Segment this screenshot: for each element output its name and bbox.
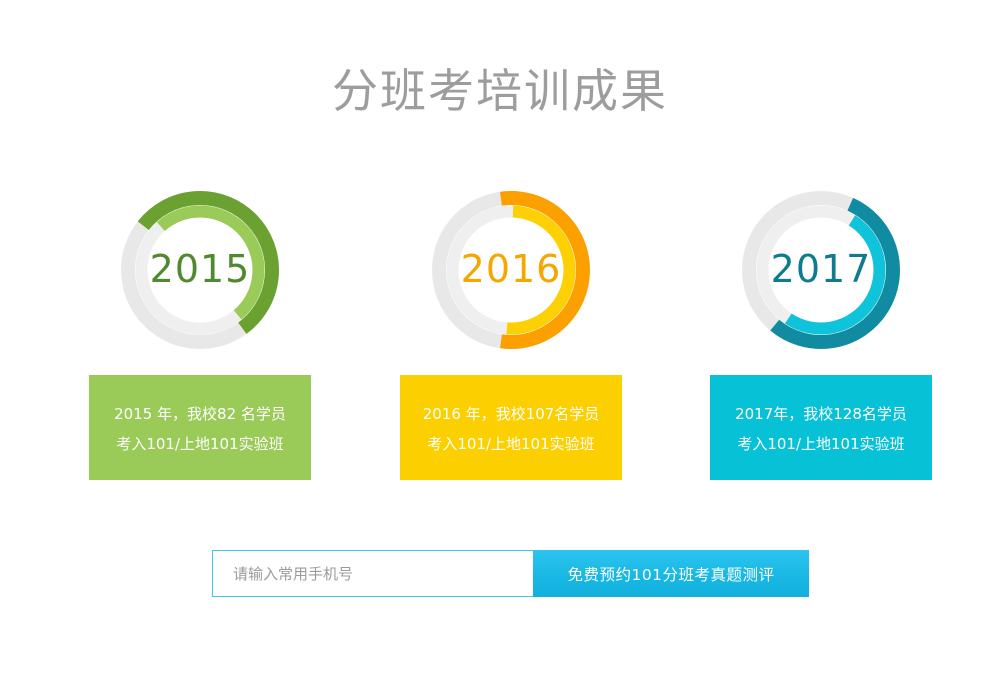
phone-input[interactable]	[212, 550, 533, 597]
info-line-2: 考入101/上地101实验班	[89, 429, 311, 459]
donut-year-label-2016: 2016	[461, 250, 562, 288]
result-info-box-2017: 2017年，我校128名学员 考入101/上地101实验班	[710, 375, 932, 480]
donut-year-label-2017: 2017	[771, 250, 872, 288]
result-card-2017: 2017 2017年，我校128名学员 考入101/上地101实验班	[710, 185, 932, 360]
info-line-1: 2016 年，我校107名学员	[400, 399, 622, 429]
info-line-1: 2015 年，我校82 名学员	[89, 399, 311, 429]
donut-chart-2017: 2017	[710, 185, 932, 360]
result-info-box-2015: 2015 年，我校82 名学员 考入101/上地101实验班	[89, 375, 311, 480]
result-info-box-2016: 2016 年，我校107名学员 考入101/上地101实验班	[400, 375, 622, 480]
info-line-1: 2017年，我校128名学员	[710, 399, 932, 429]
info-line-2: 考入101/上地101实验班	[710, 429, 932, 459]
submit-button[interactable]: 免费预约101分班考真题测评	[533, 550, 809, 597]
page-title: 分班考培训成果	[0, 62, 1000, 120]
donut-year-label-2015: 2015	[150, 250, 251, 288]
signup-form: 免费预约101分班考真题测评	[212, 550, 809, 597]
info-line-2: 考入101/上地101实验班	[400, 429, 622, 459]
donut-chart-2016: 2016	[400, 185, 622, 360]
result-card-2015: 2015 2015 年，我校82 名学员 考入101/上地101实验班	[89, 185, 311, 360]
donut-chart-2015: 2015	[89, 185, 311, 360]
result-card-2016: 2016 2016 年，我校107名学员 考入101/上地101实验班	[400, 185, 622, 360]
